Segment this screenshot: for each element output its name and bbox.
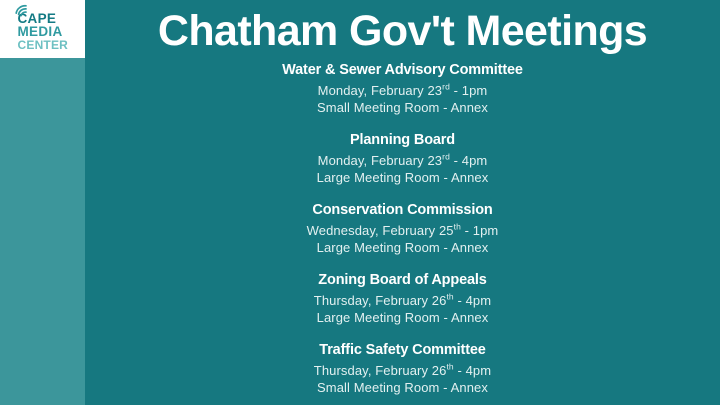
logo-text-media: MEDIA: [12, 25, 74, 39]
date-ordinal: th: [454, 222, 461, 232]
list-item: Zoning Board of Appeals Thursday, Februa…: [85, 270, 720, 326]
cape-media-center-logo: CAPE MEDIA CENTER: [0, 0, 85, 58]
meeting-time-text: - 1pm: [450, 83, 487, 98]
list-item: Traffic Safety Committee Thursday, Febru…: [85, 340, 720, 396]
page-title: Chatham Gov't Meetings: [85, 4, 720, 58]
date-ordinal: th: [446, 292, 453, 302]
date-ordinal: th: [446, 362, 453, 372]
meeting-name: Planning Board: [85, 130, 720, 150]
meeting-datetime: Monday, February 23rd - 1pm: [85, 82, 720, 99]
content-column: Chatham Gov't Meetings Water & Sewer Adv…: [85, 0, 720, 405]
meeting-name: Conservation Commission: [85, 200, 720, 220]
meetings-list: Water & Sewer Advisory Committee Monday,…: [85, 60, 720, 396]
meeting-date-text: Wednesday, February 25: [307, 223, 454, 238]
meeting-location: Large Meeting Room - Annex: [85, 309, 720, 326]
meeting-name: Zoning Board of Appeals: [85, 270, 720, 290]
list-item: Planning Board Monday, February 23rd - 4…: [85, 130, 720, 186]
meeting-time-text: - 4pm: [450, 153, 487, 168]
left-accent-strip: [0, 0, 85, 405]
meeting-date-text: Monday, February 23: [318, 83, 443, 98]
meeting-datetime: Wednesday, February 25th - 1pm: [85, 222, 720, 239]
meeting-time-text: - 4pm: [454, 293, 491, 308]
date-ordinal: rd: [442, 152, 450, 162]
logo-text-center: CENTER: [12, 39, 74, 51]
meeting-datetime: Thursday, February 26th - 4pm: [85, 362, 720, 379]
meeting-location: Small Meeting Room - Annex: [85, 99, 720, 116]
list-item: Conservation Commission Wednesday, Febru…: [85, 200, 720, 256]
logo-text-cape: CAPE: [12, 12, 74, 26]
date-ordinal: rd: [442, 82, 450, 92]
meeting-date-text: Thursday, February 26: [314, 363, 447, 378]
meeting-datetime: Thursday, February 26th - 4pm: [85, 292, 720, 309]
meeting-date-text: Thursday, February 26: [314, 293, 447, 308]
meetings-slide: CAPE MEDIA CENTER Chatham Gov't Meetings…: [0, 0, 720, 405]
meeting-location: Small Meeting Room - Annex: [85, 379, 720, 396]
meeting-location: Large Meeting Room - Annex: [85, 239, 720, 256]
list-item: Water & Sewer Advisory Committee Monday,…: [85, 60, 720, 116]
meeting-name: Traffic Safety Committee: [85, 340, 720, 360]
meeting-datetime: Monday, February 23rd - 4pm: [85, 152, 720, 169]
meeting-date-text: Monday, February 23: [318, 153, 443, 168]
meeting-location: Large Meeting Room - Annex: [85, 169, 720, 186]
meeting-time-text: - 4pm: [454, 363, 491, 378]
meeting-time-text: - 1pm: [461, 223, 498, 238]
meeting-name: Water & Sewer Advisory Committee: [85, 60, 720, 80]
